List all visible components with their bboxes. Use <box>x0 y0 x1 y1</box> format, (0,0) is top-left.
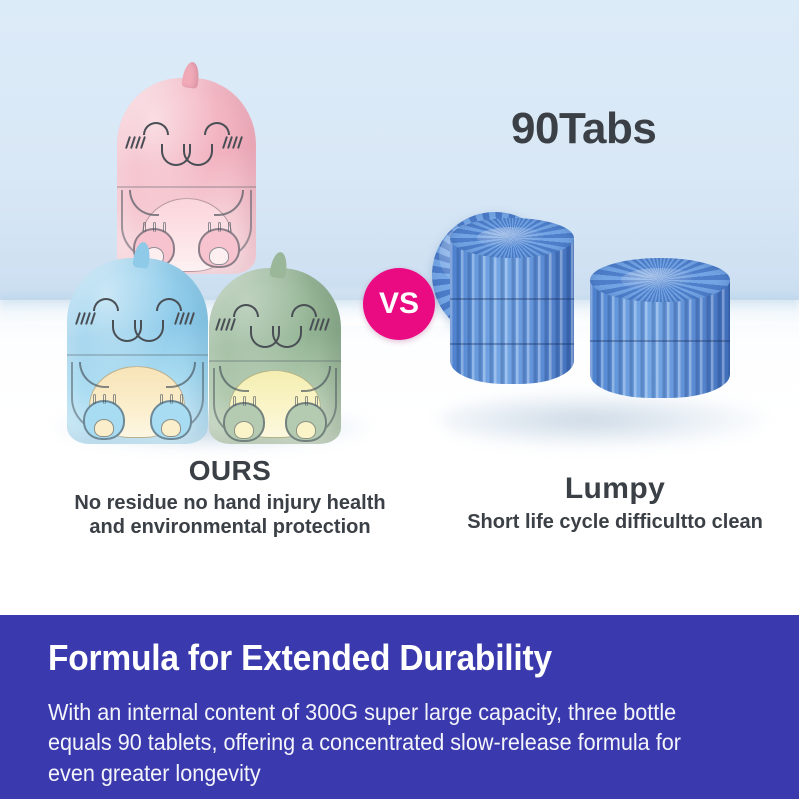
claw <box>163 222 166 232</box>
bottle-body <box>209 268 341 444</box>
caption-lumpy: Lumpy Short life cycle difficultto clean <box>450 472 780 534</box>
blue-tablets-group <box>432 212 778 412</box>
claw <box>113 394 116 404</box>
blush-right-icon <box>176 312 198 324</box>
mouth-icon <box>250 326 302 348</box>
foot-pad <box>209 247 229 265</box>
blush-left-icon <box>77 312 99 324</box>
foot-pad <box>234 421 254 439</box>
claw <box>208 222 211 232</box>
eye-right-icon <box>156 298 182 311</box>
infographic-stage: 90Tabs VS OURS No residue no hand injury… <box>0 0 799 799</box>
foot-pad <box>94 419 114 437</box>
tablet-stack-back <box>450 218 574 384</box>
claw <box>243 396 246 406</box>
vs-badge-label: VS <box>379 287 419 321</box>
blush-right-icon <box>224 136 246 148</box>
bottle-seam <box>209 360 341 362</box>
claw <box>93 394 96 404</box>
claw <box>295 396 298 406</box>
caption-lumpy-subtitle: Short life cycle difficultto clean <box>450 510 780 534</box>
foot-pad <box>161 419 181 437</box>
claw <box>170 394 173 404</box>
green-dino-bottle <box>209 268 341 444</box>
caption-lumpy-title: Lumpy <box>450 472 780 506</box>
eye-right-icon <box>204 122 230 135</box>
claw <box>305 396 308 406</box>
claw <box>315 396 318 406</box>
mouth-icon <box>161 144 213 166</box>
tablet-top <box>590 258 730 302</box>
caption-ours-subtitle: No residue no hand injury health and env… <box>70 491 390 539</box>
claw <box>233 396 236 406</box>
tablet-seam <box>450 298 574 300</box>
claw <box>228 222 231 232</box>
eye-right-icon <box>291 304 317 317</box>
foot-left <box>223 402 265 442</box>
vs-badge: VS <box>363 268 435 340</box>
claw <box>180 394 183 404</box>
claw <box>253 396 256 406</box>
blush-left-icon <box>217 318 239 330</box>
claw <box>103 394 106 404</box>
blush-left-icon <box>127 136 149 148</box>
mouth-icon <box>112 320 164 342</box>
panel-body-text: With an internal content of 300G super l… <box>48 697 687 788</box>
bottle-body <box>67 258 208 444</box>
claw <box>143 222 146 232</box>
feature-panel: Formula for Extended Durability With an … <box>0 613 799 799</box>
eye-left-icon <box>143 122 169 135</box>
foot-left <box>83 400 125 440</box>
panel-heading: Formula for Extended Durability <box>48 637 552 679</box>
claw <box>160 394 163 404</box>
foot-pad <box>296 421 316 439</box>
blush-right-icon <box>311 318 333 330</box>
bottle-seam <box>67 354 208 356</box>
tablet-seam <box>450 343 574 345</box>
eye-left-icon <box>233 304 259 317</box>
foot-right <box>285 402 327 442</box>
blue-dino-bottle <box>67 258 208 444</box>
tablet-side <box>450 238 574 384</box>
tablet-seam <box>590 340 730 342</box>
tablet-stack-right <box>590 258 730 398</box>
bottle-seam <box>117 186 256 188</box>
foot-right <box>150 400 192 440</box>
caption-ours: OURS No residue no hand injury health an… <box>70 455 390 539</box>
caption-ours-title: OURS <box>70 455 390 487</box>
product-photo-area: 90Tabs VS OURS No residue no hand injury… <box>0 0 799 613</box>
tablet-top <box>450 218 574 258</box>
tabs-count-heading: 90Tabs <box>511 104 656 154</box>
claw <box>153 222 156 232</box>
eye-left-icon <box>93 298 119 311</box>
claw <box>218 222 221 232</box>
